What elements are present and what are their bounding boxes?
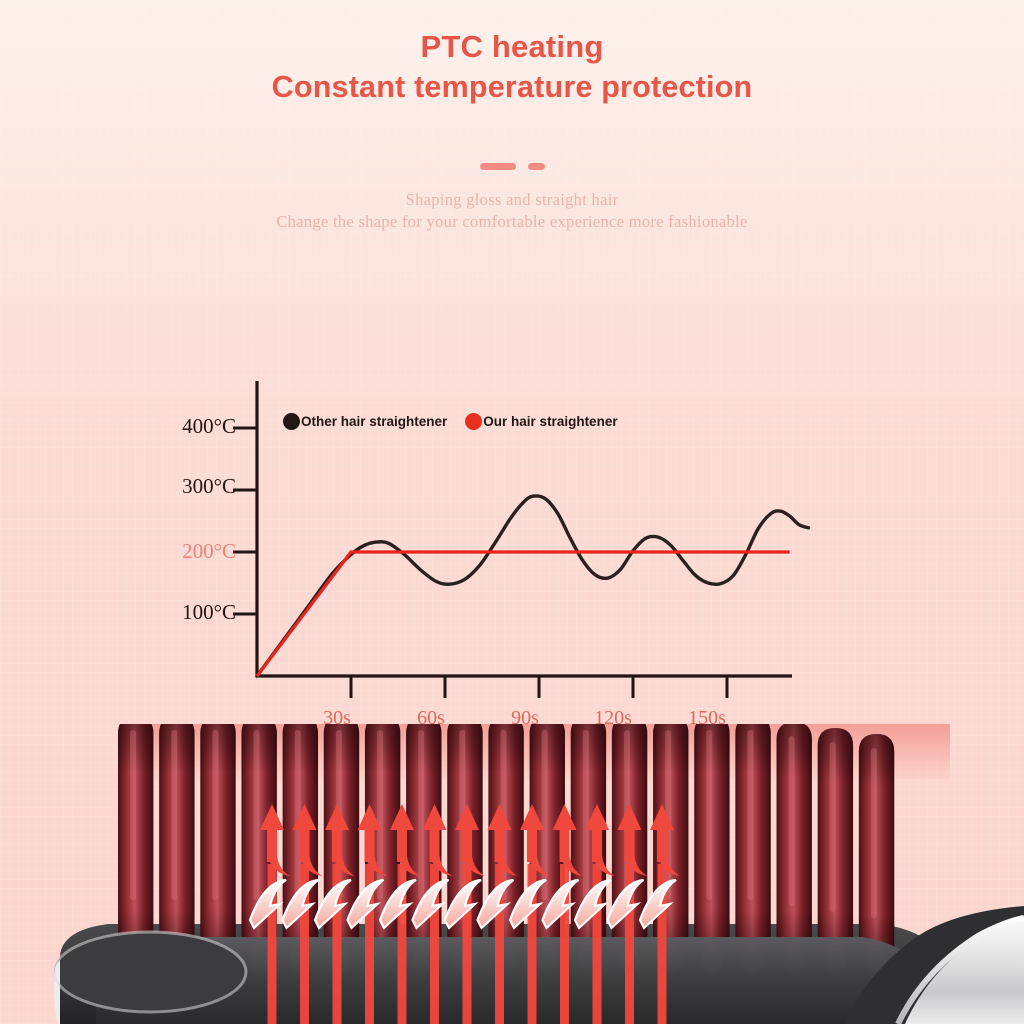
legend-item-ours: Our hair straightener <box>465 413 617 430</box>
legend-marker-circle-icon <box>465 413 482 430</box>
comb-tooth-highlight <box>789 736 795 906</box>
legend-item-other: Other hair straightener <box>283 413 447 430</box>
series-line-our-hair-straightener <box>257 552 790 676</box>
comb-tooth-highlight <box>830 742 836 912</box>
comb-tooth-highlight <box>747 730 753 900</box>
y-tick-label-100: 100°C <box>166 600 236 625</box>
comb-tooth-highlight <box>583 730 589 900</box>
y-tick-label-400: 400°C <box>166 414 236 439</box>
comb-tooth-highlight <box>871 748 877 918</box>
infographic-page: PTC heating Constant temperature protect… <box>0 0 1024 1024</box>
comb-tooth-highlight <box>212 730 218 900</box>
comb-teeth-group <box>118 724 894 974</box>
comb-tooth-highlight <box>706 730 712 900</box>
product-photo-heated-comb <box>0 724 1024 1024</box>
y-tick-label-300: 300°C <box>166 474 236 499</box>
legend-label-ours: Our hair straightener <box>483 414 617 429</box>
comb-tooth-highlight <box>254 730 260 900</box>
series-line-other-hair-straightener <box>257 496 808 676</box>
y-tick-label-200: 200°C <box>166 539 236 564</box>
comb-tooth-highlight <box>418 730 424 900</box>
x-axis-ticks <box>351 676 727 698</box>
legend-marker-circle-icon <box>283 413 300 430</box>
comb-tooth-highlight <box>130 730 136 900</box>
comb-tooth-highlight <box>171 730 177 900</box>
chart-legend: Other hair straightener Our hair straigh… <box>283 413 618 430</box>
legend-label-other: Other hair straightener <box>301 414 447 429</box>
y-axis-ticks <box>233 428 257 614</box>
